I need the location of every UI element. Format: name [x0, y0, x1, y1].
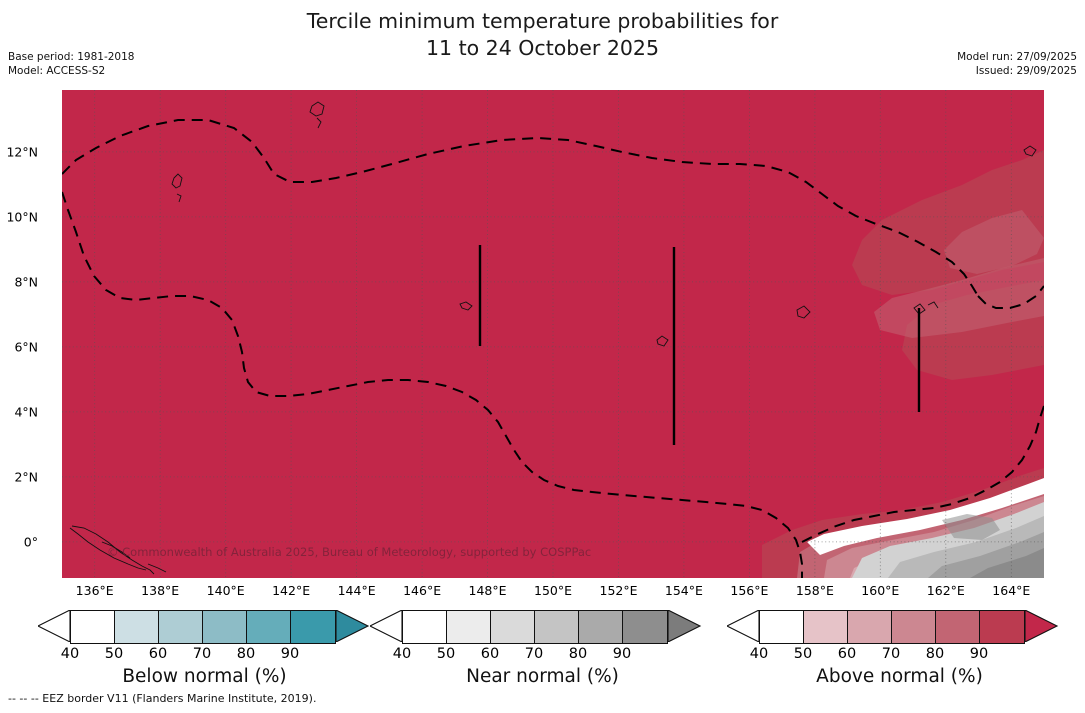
x-tick-142E: 142°E — [272, 583, 310, 598]
cb-tick: 50 — [794, 646, 812, 662]
cb-cell — [535, 611, 579, 643]
y-tick-12N: 12°N — [6, 145, 38, 160]
colorbar-label-above: Above normal (%) — [727, 666, 1072, 687]
y-tick-6N: 6°N — [14, 340, 38, 355]
colorbar-ticks-near: 40 50 60 70 80 90 — [370, 646, 715, 666]
x-tick-144E: 144°E — [338, 583, 376, 598]
cb-tick: 40 — [393, 646, 411, 662]
x-tick-162E: 162°E — [927, 583, 965, 598]
base-period-text: Base period: 1981-2018 — [8, 50, 134, 64]
x-tick-146E: 146°E — [403, 583, 441, 598]
cb-tick: 90 — [970, 646, 988, 662]
eez-footnote: -- -- -- EEZ border V11 (Flanders Marine… — [8, 692, 316, 705]
y-tick-0: 0° — [24, 535, 38, 550]
x-tick-136E: 136°E — [76, 583, 114, 598]
colorbar-ticks-below: 40 50 60 70 80 90 — [8, 646, 353, 666]
cb-tick: 70 — [193, 646, 211, 662]
colorbar-cells-below — [70, 610, 336, 644]
colorbar-cells-above — [759, 610, 1025, 644]
colorbar-label-near: Near normal (%) — [370, 666, 715, 687]
y-tick-2N: 2°N — [14, 470, 38, 485]
cb-cell — [447, 611, 491, 643]
cb-cell — [980, 611, 1024, 643]
cb-cell — [71, 611, 115, 643]
colorbar-over-arrow-near — [668, 610, 702, 642]
cb-cell — [623, 611, 667, 643]
x-tick-152E: 152°E — [599, 583, 637, 598]
cb-tick: 60 — [481, 646, 499, 662]
title-line-2: 11 to 24 October 2025 — [0, 35, 1085, 62]
cb-tick: 60 — [838, 646, 856, 662]
cb-tick: 80 — [569, 646, 587, 662]
x-tick-158E: 158°E — [796, 583, 834, 598]
cb-cell — [159, 611, 203, 643]
cb-tick: 50 — [105, 646, 123, 662]
cb-cell — [291, 611, 335, 643]
cb-cell — [115, 611, 159, 643]
cb-tick: 80 — [926, 646, 944, 662]
x-tick-150E: 150°E — [534, 583, 572, 598]
cb-tick: 90 — [613, 646, 631, 662]
metadata-left: Base period: 1981-2018 Model: ACCESS-S2 — [8, 50, 134, 78]
cb-cell — [203, 611, 247, 643]
cb-tick: 60 — [149, 646, 167, 662]
x-tick-160E: 160°E — [861, 583, 899, 598]
cb-tick: 50 — [437, 646, 455, 662]
cb-cell — [491, 611, 535, 643]
model-run-text: Model run: 27/09/2025 — [957, 50, 1077, 64]
y-tick-10N: 10°N — [6, 210, 38, 225]
colorbar-under-outline-below — [38, 610, 71, 642]
title-line-1: Tercile minimum temperature probabilitie… — [307, 9, 779, 33]
x-tick-156E: 156°E — [730, 583, 768, 598]
colorbar-under-arrow-above — [727, 610, 760, 642]
colorbar-cells-near — [402, 610, 668, 644]
cb-cell — [760, 611, 804, 643]
metadata-right: Model run: 27/09/2025 Issued: 29/09/2025 — [957, 50, 1077, 78]
issued-text: Issued: 29/09/2025 — [957, 64, 1077, 78]
map-plot-area[interactable]: © Commonwealth of Australia 2025, Bureau… — [62, 90, 1044, 578]
colorbar-near-normal[interactable]: 40 50 60 70 80 90 Near normal (%) — [370, 608, 715, 644]
page-title: Tercile minimum temperature probabilitie… — [0, 8, 1085, 62]
colorbar-under-arrow-near — [370, 610, 403, 642]
cb-tick: 40 — [750, 646, 768, 662]
cb-tick: 70 — [525, 646, 543, 662]
cb-cell — [936, 611, 980, 643]
cb-tick: 80 — [237, 646, 255, 662]
cb-cell — [247, 611, 291, 643]
cb-tick: 40 — [61, 646, 79, 662]
colorbar-over-arrow-below — [336, 610, 370, 642]
x-tick-138E: 138°E — [141, 583, 179, 598]
x-tick-140E: 140°E — [207, 583, 245, 598]
copyright-watermark: © Commonwealth of Australia 2025, Bureau… — [107, 545, 591, 559]
cb-cell — [403, 611, 447, 643]
model-text: Model: ACCESS-S2 — [8, 64, 134, 78]
cb-tick: 70 — [882, 646, 900, 662]
y-tick-4N: 4°N — [14, 405, 38, 420]
cb-cell — [892, 611, 936, 643]
cb-cell — [804, 611, 848, 643]
colorbar-label-below: Below normal (%) — [8, 666, 377, 687]
x-tick-154E: 154°E — [665, 583, 703, 598]
colorbar-over-arrow-above — [1025, 610, 1059, 642]
x-tick-164E: 164°E — [992, 583, 1030, 598]
colorbar-above-normal[interactable]: 40 50 60 70 80 90 Above normal (%) — [727, 608, 1072, 644]
cb-tick: 90 — [281, 646, 299, 662]
cb-cell — [848, 611, 892, 643]
y-tick-8N: 8°N — [14, 275, 38, 290]
x-tick-148E: 148°E — [468, 583, 506, 598]
colorbar-below-normal[interactable]: 40 50 60 70 80 90 Below normal (%) — [8, 608, 353, 644]
cb-cell — [579, 611, 623, 643]
colorbar-ticks-above: 40 50 60 70 80 90 — [727, 646, 1072, 666]
